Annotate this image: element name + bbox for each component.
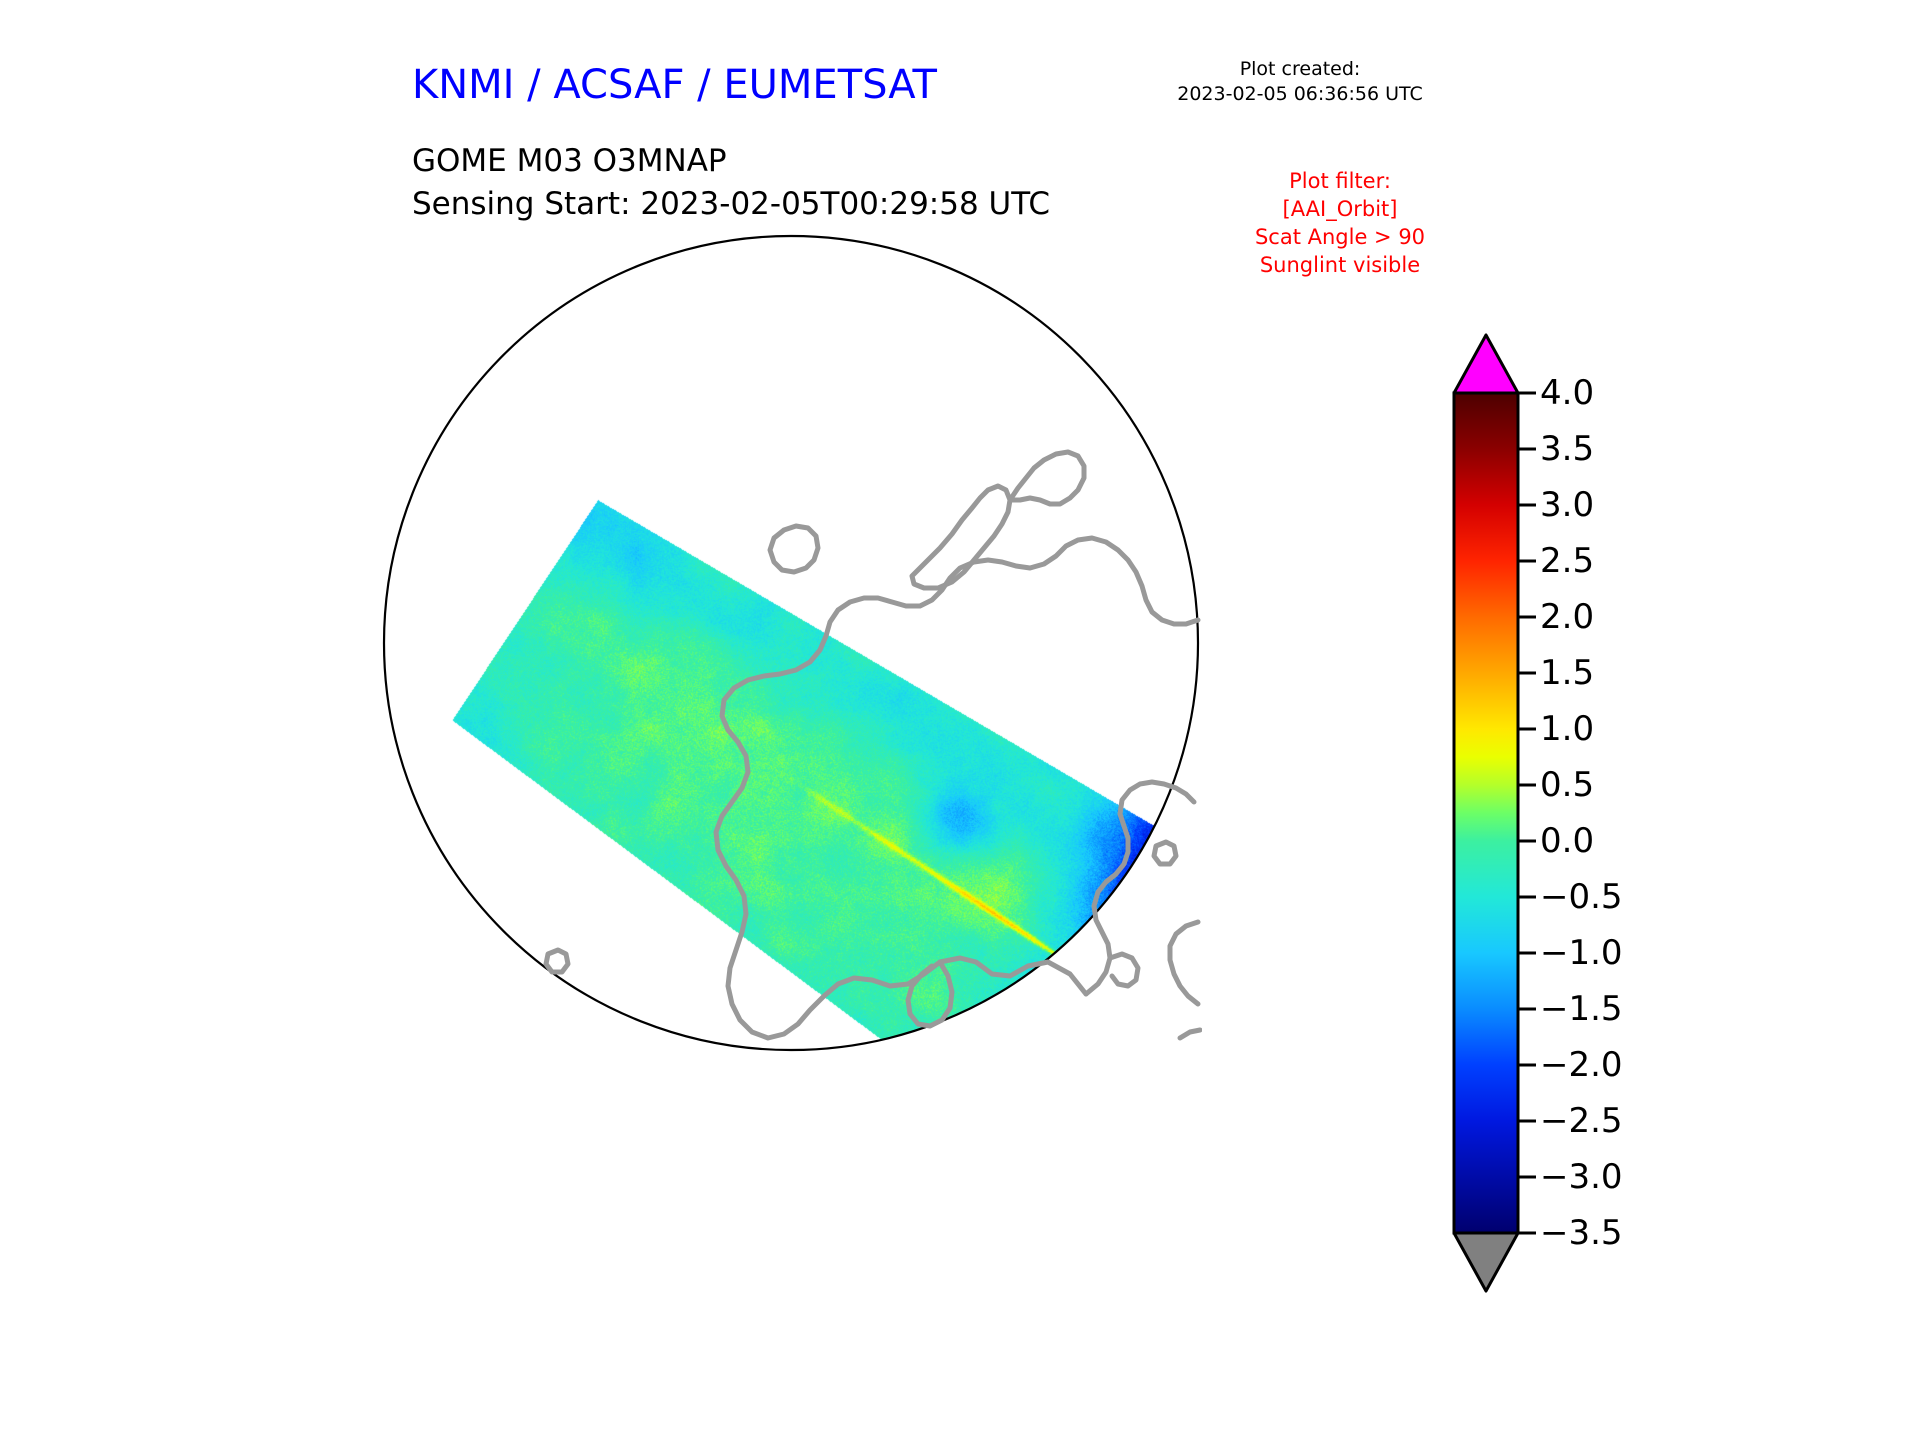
colorbar-tick-label: 0.0 — [1540, 821, 1594, 861]
plot-created-label: Plot created: — [1150, 57, 1450, 82]
colorbar-under-arrow — [1454, 1233, 1518, 1291]
coastline-path — [1154, 842, 1176, 864]
colorbar-body — [1454, 393, 1518, 1233]
sensing-start: Sensing Start: 2023-02-05T00:29:58 UTC — [412, 183, 1050, 226]
dataset-block: GOME M03 O3MNAP Sensing Start: 2023-02-0… — [412, 140, 1050, 226]
map-overlay — [380, 232, 1202, 1054]
filter-line-3: Scat Angle > 90 — [1190, 224, 1490, 252]
plot-created-block: Plot created: 2023-02-05 06:36:56 UTC — [1150, 57, 1450, 107]
colorbar-over-arrow — [1454, 335, 1518, 393]
coastline-path — [1010, 452, 1084, 504]
colorbar-tick-label: 3.5 — [1540, 429, 1594, 469]
coastline-path — [1180, 1030, 1200, 1038]
coastline-path — [546, 950, 568, 972]
coastline-path — [1110, 954, 1138, 986]
filter-line-4: Sunglint visible — [1190, 252, 1490, 280]
colorbar-graphic — [1440, 285, 1860, 1295]
colorbar-ticks — [1518, 393, 1536, 1233]
colorbar-tick-label: −1.0 — [1540, 933, 1623, 973]
coastline-path — [770, 526, 818, 572]
colorbar-tick-label: −0.5 — [1540, 877, 1623, 917]
colorbar-tick-label: −3.5 — [1540, 1213, 1623, 1253]
colorbar-tick-label: 1.5 — [1540, 653, 1594, 693]
plot-filter-block: Plot filter: [AAI_Orbit] Scat Angle > 90… — [1190, 168, 1490, 280]
plot-created-time: 2023-02-05 06:36:56 UTC — [1150, 82, 1450, 107]
polar-map — [380, 232, 1202, 1054]
colorbar: 4.03.53.02.52.01.51.00.50.0−0.5−1.0−1.5−… — [1440, 285, 1860, 1295]
institute-title: KNMI / ACSAF / EUMETSAT — [412, 62, 937, 108]
colorbar-tick-label: −3.0 — [1540, 1157, 1623, 1197]
colorbar-tick-label: −1.5 — [1540, 989, 1623, 1029]
filter-line-1: Plot filter: — [1190, 168, 1490, 196]
coastline-path — [1086, 782, 1194, 994]
coastline-path — [716, 538, 1198, 1038]
coastline-path — [912, 486, 1010, 588]
colorbar-tick-label: −2.5 — [1540, 1101, 1623, 1141]
coastlines — [546, 452, 1200, 1038]
colorbar-tick-label: 4.0 — [1540, 373, 1594, 413]
filter-line-2: [AAI_Orbit] — [1190, 196, 1490, 224]
colorbar-tick-label: 2.5 — [1540, 541, 1594, 581]
plot-page: KNMI / ACSAF / EUMETSAT Plot created: 20… — [0, 0, 1920, 1440]
dataset-name: GOME M03 O3MNAP — [412, 140, 1050, 183]
colorbar-tick-label: 0.5 — [1540, 765, 1594, 805]
coastline-path — [1170, 922, 1198, 1004]
colorbar-tick-label: −2.0 — [1540, 1045, 1623, 1085]
colorbar-tick-label: 3.0 — [1540, 485, 1594, 525]
globe-outline — [384, 236, 1198, 1050]
colorbar-tick-label: 1.0 — [1540, 709, 1594, 749]
colorbar-tick-label: 2.0 — [1540, 597, 1594, 637]
